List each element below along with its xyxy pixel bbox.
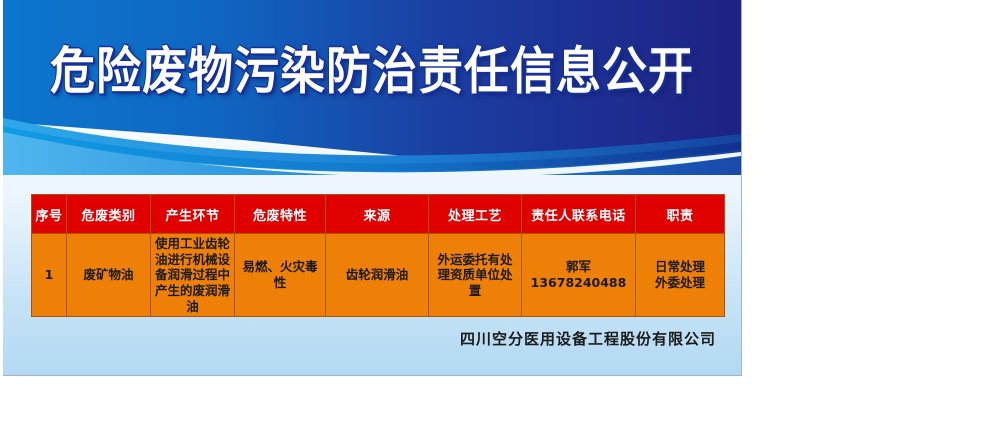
information-disclosure-poster: 危险废物污染防治责任信息公开 序号 危废类别 产生环节 危废特性 来源 处理工艺… [3, 0, 742, 376]
header-banner [3, 0, 741, 175]
cell-process: 外运委托有处理资质单位处置 [429, 234, 522, 317]
col-header-source: 来源 [326, 195, 429, 234]
contact-phone-number: 13678240488 [525, 275, 632, 291]
header-wave-graphic [3, 0, 741, 175]
cell-duty: 日常处理 外委处理 [636, 234, 725, 317]
col-header-property: 危废特性 [235, 195, 326, 234]
cell-contact: 郭军 13678240488 [522, 234, 636, 317]
col-header-stage: 产生环节 [151, 195, 235, 234]
col-header-contact: 责任人联系电话 [522, 195, 636, 234]
cell-property: 易燃、火灾毒性 [235, 234, 326, 317]
company-name: 四川空分医用设备工程股份有限公司 [3, 328, 716, 349]
hazardous-waste-table: 序号 危废类别 产生环节 危废特性 来源 处理工艺 责任人联系电话 职责 1 废… [31, 194, 725, 317]
table-row: 1 废矿物油 使用工业齿轮油进行机械设备润滑过程中产生的废润滑油 易燃、火灾毒性… [32, 234, 725, 317]
cell-stage: 使用工业齿轮油进行机械设备润滑过程中产生的废润滑油 [151, 234, 235, 317]
cell-category: 废矿物油 [67, 234, 151, 317]
contact-person-name: 郭军 [525, 259, 632, 275]
cell-source: 齿轮润滑油 [326, 234, 429, 317]
col-header-seq: 序号 [32, 195, 67, 234]
col-header-category: 危废类别 [67, 195, 151, 234]
duty-line-2: 外委处理 [639, 275, 721, 291]
table-header-row: 序号 危废类别 产生环节 危废特性 来源 处理工艺 责任人联系电话 职责 [32, 195, 725, 234]
duty-line-1: 日常处理 [639, 259, 721, 275]
col-header-process: 处理工艺 [429, 195, 522, 234]
cell-seq: 1 [32, 234, 67, 317]
col-header-duty: 职责 [636, 195, 725, 234]
